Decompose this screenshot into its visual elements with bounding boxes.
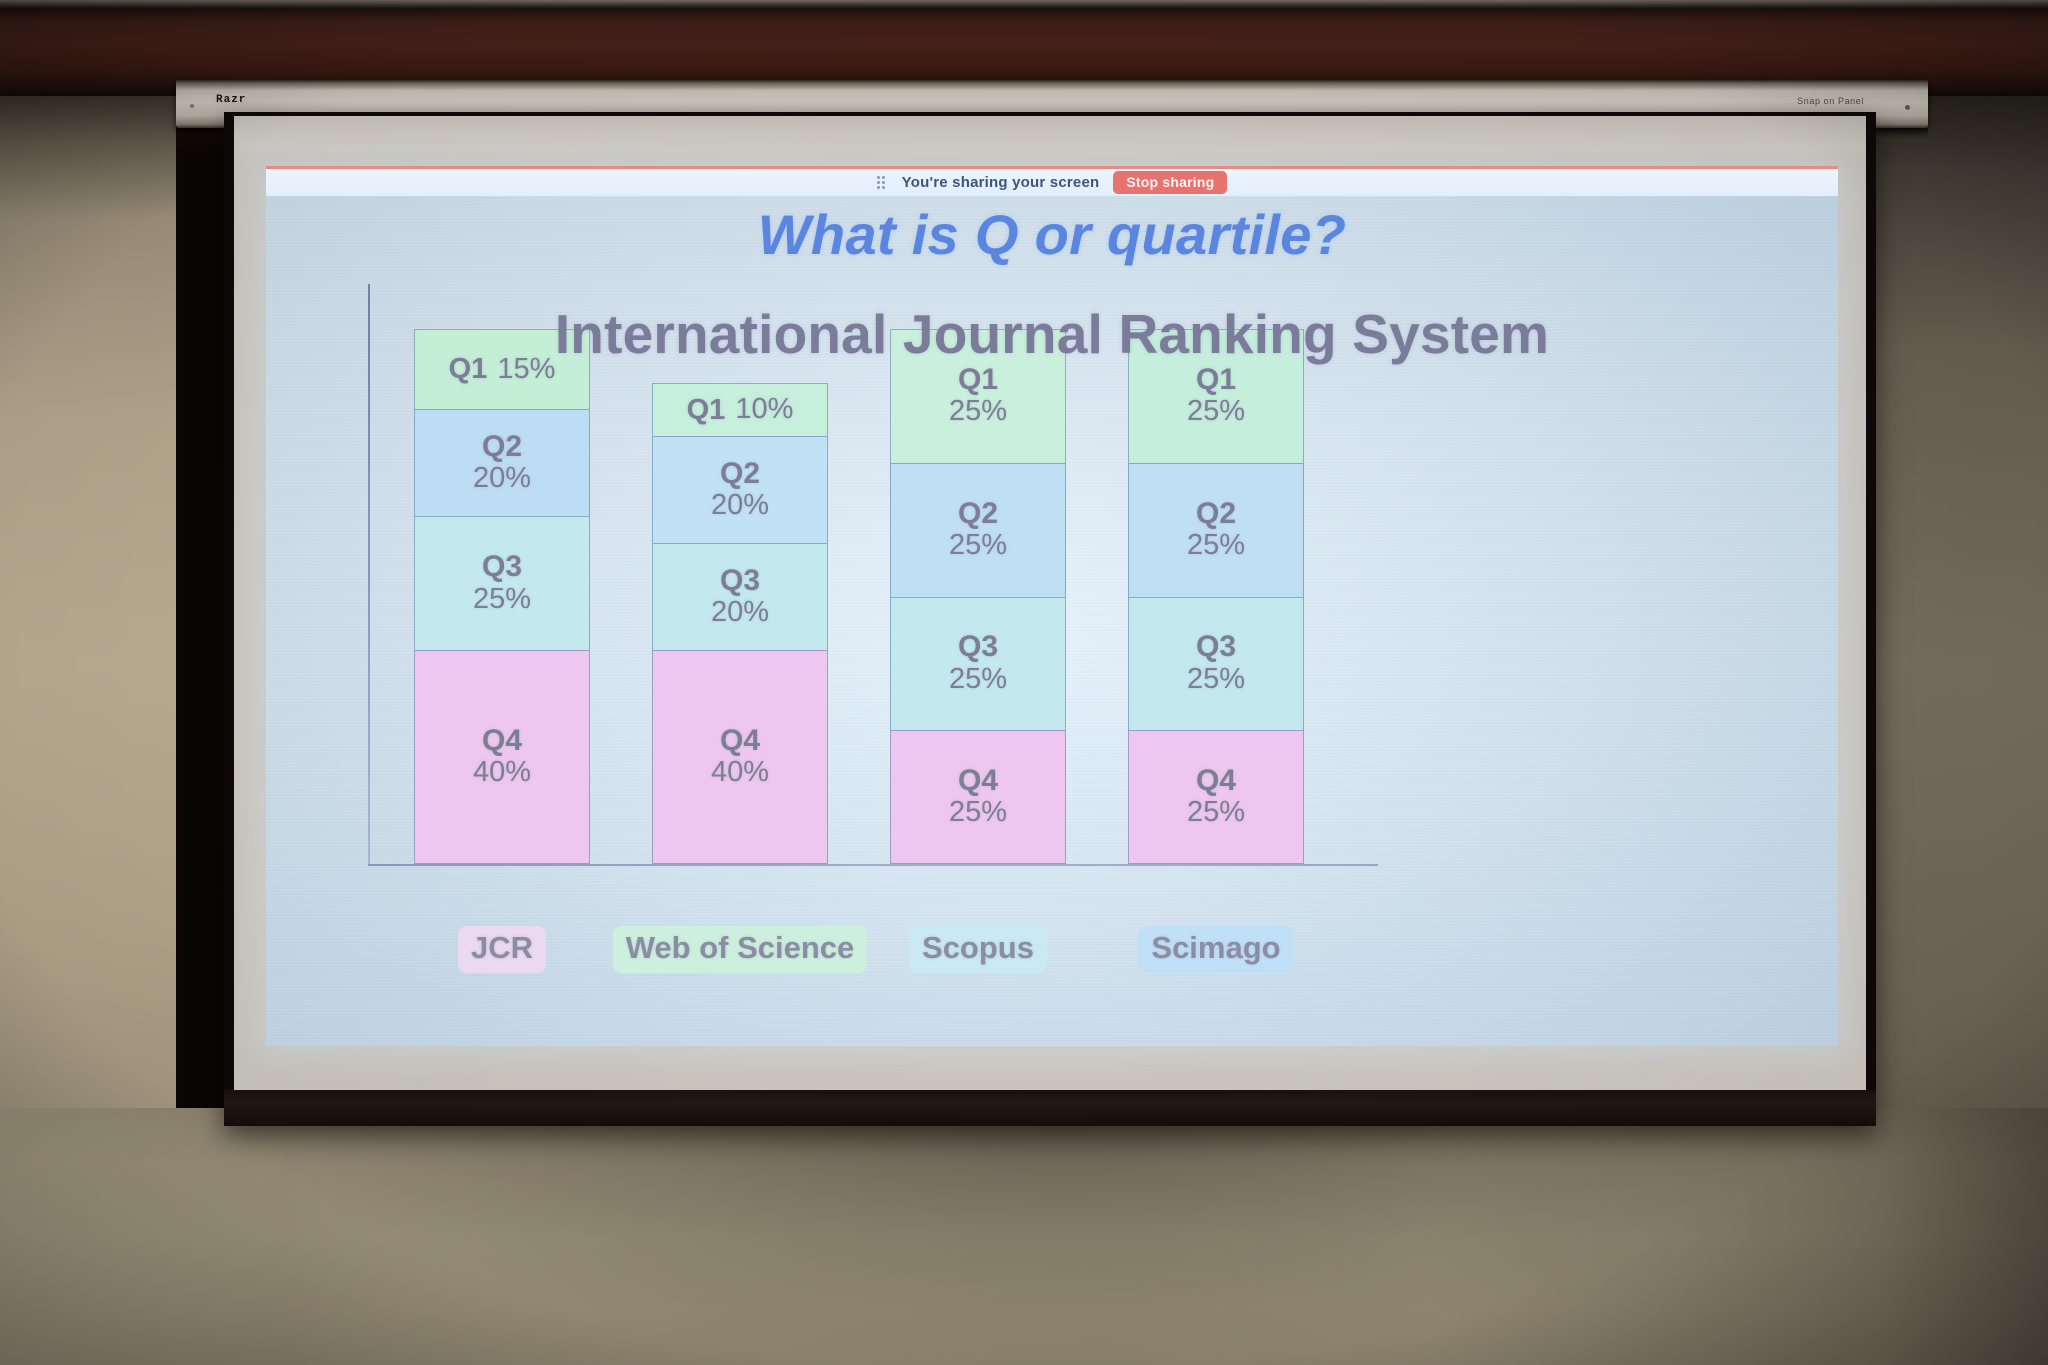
drag-handle-icon[interactable] <box>877 176 888 189</box>
segment-percent-value: 25% <box>1187 395 1245 428</box>
slide-title: What is Q or quartile? <box>266 202 1838 267</box>
wall-below-screen <box>0 1108 2048 1365</box>
segment-quartile-label: Q4 <box>482 725 522 757</box>
segment-quartile-label: Q4 <box>720 725 760 757</box>
chart-segment: Q325% <box>414 516 590 650</box>
screen-share-banner: You're sharing your screen Stop sharing <box>266 166 1838 196</box>
segment-percent-value: 20% <box>473 462 531 495</box>
segment-quartile-label: Q2 <box>720 458 760 490</box>
segment-quartile-label: Q4 <box>958 765 998 797</box>
chart-segment: Q325% <box>890 597 1066 731</box>
segment-quartile-label: Q3 <box>482 551 522 583</box>
chart-segment: Q325% <box>1128 597 1304 731</box>
housing-screw-left <box>190 104 194 108</box>
chart-x-axis <box>368 864 1378 866</box>
projection-screen-surface: You're sharing your screen Stop sharing … <box>234 116 1866 1090</box>
chart-category-label: Scimago <box>1138 926 1293 973</box>
segment-percent-value: 25% <box>949 395 1007 428</box>
chart-column: Q125%Q225%Q325%Q425% <box>1128 329 1304 864</box>
segment-percent-value: 25% <box>473 583 531 616</box>
projection-screen-bottom-bar <box>224 1090 1876 1126</box>
chart-segment: Q110% <box>652 383 828 437</box>
segment-quartile-label: Q2 <box>1196 498 1236 530</box>
slide-subtitle: International Journal Ranking System <box>266 302 1838 366</box>
segment-quartile-label: Q1 <box>1196 364 1236 396</box>
chart-segment: Q425% <box>890 730 1066 864</box>
segment-quartile-label: Q1 <box>687 395 726 425</box>
segment-percent-value: 25% <box>949 529 1007 562</box>
segment-quartile-label: Q2 <box>482 431 522 463</box>
chart-segment: Q220% <box>414 409 590 516</box>
chart-category-labels: JCRWeb of ScienceScopusScimago <box>362 926 1382 986</box>
chart-segment: Q440% <box>414 650 590 864</box>
segment-percent-value: 25% <box>949 663 1007 696</box>
stacked-bar-chart: Q115%Q220%Q325%Q440%Q110%Q220%Q320%Q440%… <box>362 284 1382 904</box>
stop-sharing-button[interactable]: Stop sharing <box>1113 171 1227 194</box>
chart-column: Q115%Q220%Q325%Q440% <box>414 329 590 864</box>
segment-percent-value: 10% <box>735 393 793 426</box>
chart-category-label: JCR <box>458 926 546 973</box>
segment-percent-value: 25% <box>949 796 1007 829</box>
segment-percent-value: 25% <box>1187 529 1245 562</box>
segment-quartile-label: Q3 <box>958 631 998 663</box>
segment-percent-value: 25% <box>1187 796 1245 829</box>
segment-percent-value: 20% <box>711 489 769 522</box>
segment-percent-value: 25% <box>1187 663 1245 696</box>
chart-segment: Q425% <box>1128 730 1304 864</box>
segment-percent-value: 40% <box>711 756 769 789</box>
chart-y-axis <box>368 284 370 866</box>
chart-column: Q110%Q220%Q320%Q440% <box>652 383 828 865</box>
share-status-text: You're sharing your screen <box>902 174 1100 191</box>
housing-brand-label: Razr <box>214 94 248 106</box>
segment-quartile-label: Q4 <box>1196 765 1236 797</box>
chart-segment: Q225% <box>1128 463 1304 597</box>
chart-segment: Q320% <box>652 543 828 650</box>
ceiling-edge <box>0 0 2048 9</box>
chart-segment: Q225% <box>890 463 1066 597</box>
segment-quartile-label: Q3 <box>720 565 760 597</box>
housing-screw-right <box>1905 105 1910 110</box>
segment-percent-value: 20% <box>711 596 769 629</box>
chart-column: Q125%Q225%Q325%Q425% <box>890 329 1066 864</box>
housing-model-label: Snap on Panel <box>1797 96 1864 106</box>
chart-segment: Q220% <box>652 436 828 543</box>
chart-segment: Q440% <box>652 650 828 864</box>
chart-category-label: Scopus <box>909 926 1047 973</box>
projected-slide: You're sharing your screen Stop sharing … <box>266 166 1838 1046</box>
chart-category-label: Web of Science <box>613 926 868 973</box>
segment-percent-value: 40% <box>473 756 531 789</box>
segment-quartile-label: Q3 <box>1196 631 1236 663</box>
segment-quartile-label: Q2 <box>958 498 998 530</box>
segment-quartile-label: Q1 <box>958 364 998 396</box>
